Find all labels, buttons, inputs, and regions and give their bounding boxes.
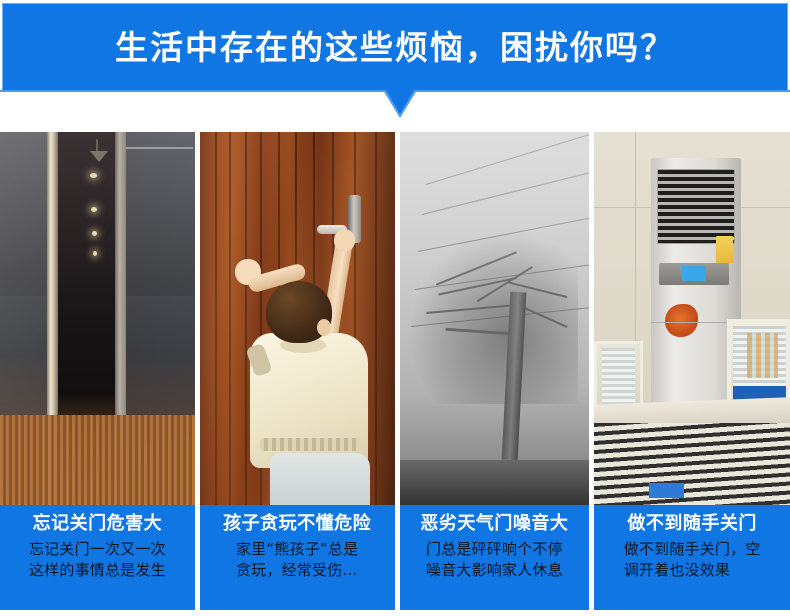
panel-item[interactable]: 忘记关门危害大 忘记关门一次又一次 这样的事情总是发生 [0,132,195,610]
page-title: 生活中存在的这些烦恼，困扰你吗？ [115,31,675,64]
caption-title: 恶劣天气门噪音大 [420,513,568,536]
stormy-windswept-tree-powerlines-photo [400,132,590,505]
header-bar: 生活中存在的这些烦恼，困扰你吗？ [2,3,788,90]
caption-body: 做不到随手关门，空 调开着也没效果 [624,539,761,583]
caption-body: 门总是砰砰响个不停 噪音大影响家人休息 [426,539,563,583]
panel-caption: 恶劣天气门噪音大 门总是砰砰响个不停 噪音大影响家人休息 [400,505,590,610]
panel-item[interactable]: 恶劣天气门噪音大 门总是砰砰响个不停 噪音大影响家人休息 [400,132,590,610]
header-section: 生活中存在的这些烦恼，困扰你吗？ [0,0,790,120]
caption-title: 孩子贪玩不懂危险 [223,513,371,536]
panel-item[interactable]: 做不到随手关门 做不到随手关门，空 调开着也没效果 [594,132,790,610]
caption-title: 忘记关门危害大 [33,513,163,536]
panel-caption: 孩子贪玩不懂危险 家里“熊孩子”总是 贪玩，经常受伤… [200,505,395,610]
dark-glass-corridor-door-photo [0,132,195,505]
promo-banner-page: 生活中存在的这些烦恼，困扰你吗？ [0,0,790,616]
panel-grid: 忘记关门危害大 忘记关门一次又一次 这样的事情总是发生 [0,132,790,610]
child-reaching-door-handle-photo [200,132,395,505]
caption-body: 忘记关门一次又一次 这样的事情总是发生 [29,539,166,583]
caption-title: 做不到随手关门 [627,513,757,536]
panel-item[interactable]: 孩子贪玩不懂危险 家里“熊孩子”总是 贪玩，经常受伤… [200,132,395,610]
down-triangle-pointer-icon [386,90,414,114]
panel-caption: 忘记关门危害大 忘记关门一次又一次 这样的事情总是发生 [0,505,195,610]
caption-body: 家里“熊孩子”总是 贪玩，经常受伤… [236,539,358,583]
panel-caption: 做不到随手关门 做不到随手关门，空 调开着也没效果 [594,505,790,610]
floor-standing-air-conditioner-room-photo [594,132,790,505]
